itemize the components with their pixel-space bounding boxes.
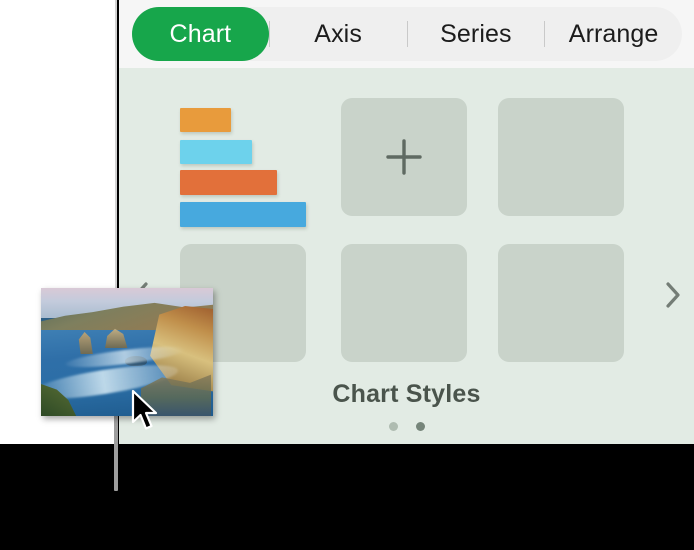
page-dot-1[interactable] xyxy=(389,422,398,431)
tab-arrange-label: Arrange xyxy=(569,20,659,49)
chart-bar-1 xyxy=(180,108,231,132)
tab-series[interactable]: Series xyxy=(408,7,545,61)
tab-chart-label: Chart xyxy=(170,20,232,49)
chart-bar-2 xyxy=(180,140,252,164)
tab-segmented-control[interactable]: Chart Axis Series Arrange xyxy=(132,7,682,61)
tab-axis[interactable]: Axis xyxy=(270,7,407,61)
chevron-right-icon xyxy=(664,281,681,309)
tab-chart[interactable]: Chart xyxy=(132,7,269,61)
tab-arrange[interactable]: Arrange xyxy=(545,7,682,61)
chart-bar-3 xyxy=(180,170,277,195)
tab-series-label: Series xyxy=(440,20,511,49)
plus-icon xyxy=(341,98,467,216)
chart-style-tile-5[interactable] xyxy=(341,244,467,362)
next-page-button[interactable] xyxy=(655,275,689,315)
chart-style-tile-6[interactable] xyxy=(498,244,624,362)
dragged-image-thumbnail[interactable] xyxy=(41,288,213,416)
callout-leader-line xyxy=(114,414,118,491)
chart-style-preview-selected[interactable] xyxy=(177,98,309,216)
tab-axis-label: Axis xyxy=(314,20,362,49)
chart-bar-4 xyxy=(180,202,306,227)
page-dot-2[interactable] xyxy=(416,422,425,431)
chart-style-add-tile[interactable] xyxy=(341,98,467,216)
inspector-tab-bar: Chart Axis Series Arrange xyxy=(119,0,694,68)
page-indicator[interactable] xyxy=(119,422,694,431)
chart-style-tile-3[interactable] xyxy=(498,98,624,216)
